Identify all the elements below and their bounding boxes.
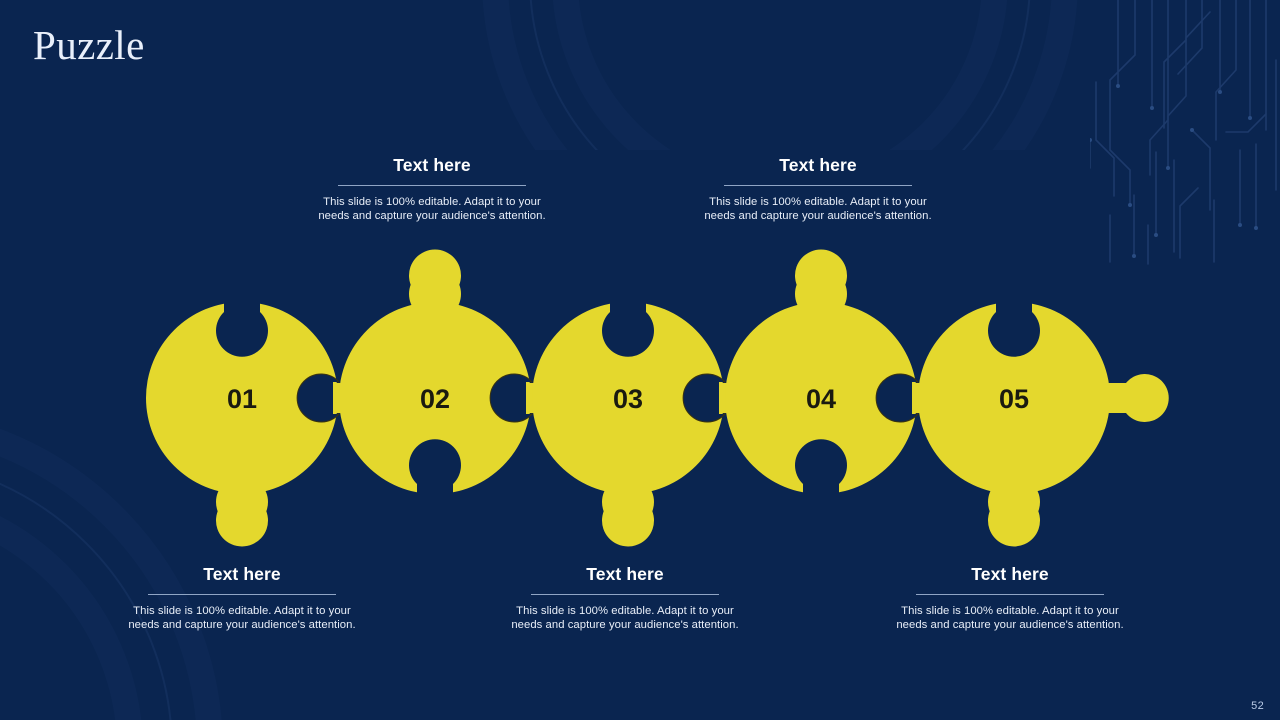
text-block-body: This slide is 100% editable. Adapt it to…: [317, 195, 547, 224]
page-number: 52: [1251, 700, 1264, 712]
text-block-divider: [916, 594, 1104, 595]
text-block-title: Text here: [317, 155, 547, 176]
text-block-02-top: Text hereThis slide is 100% editable. Ad…: [317, 155, 547, 224]
puzzle-piece-number: 03: [613, 384, 643, 414]
text-block-title: Text here: [895, 564, 1125, 585]
text-block-divider: [724, 185, 912, 186]
text-block-body: This slide is 100% editable. Adapt it to…: [703, 195, 933, 224]
puzzle-piece-number: 01: [227, 384, 257, 414]
text-block-04-top: Text hereThis slide is 100% editable. Ad…: [703, 155, 933, 224]
puzzle-piece-number: 02: [420, 384, 450, 414]
puzzle-piece-number: 05: [999, 384, 1029, 414]
text-block-body: This slide is 100% editable. Adapt it to…: [895, 604, 1125, 633]
text-block-title: Text here: [127, 564, 357, 585]
text-block-03-bottom: Text hereThis slide is 100% editable. Ad…: [510, 564, 740, 633]
puzzle-piece-05[interactable]: 05: [876, 298, 1169, 546]
text-block-title: Text here: [510, 564, 740, 585]
text-block-05-bottom: Text hereThis slide is 100% editable. Ad…: [895, 564, 1125, 633]
text-block-divider: [531, 594, 719, 595]
text-block-divider: [148, 594, 336, 595]
text-block-title: Text here: [703, 155, 933, 176]
text-block-01-bottom: Text hereThis slide is 100% editable. Ad…: [127, 564, 357, 633]
text-block-body: This slide is 100% editable. Adapt it to…: [510, 604, 740, 633]
puzzle-piece-number: 04: [806, 384, 836, 414]
text-block-body: This slide is 100% editable. Adapt it to…: [127, 604, 357, 633]
text-block-divider: [338, 185, 526, 186]
